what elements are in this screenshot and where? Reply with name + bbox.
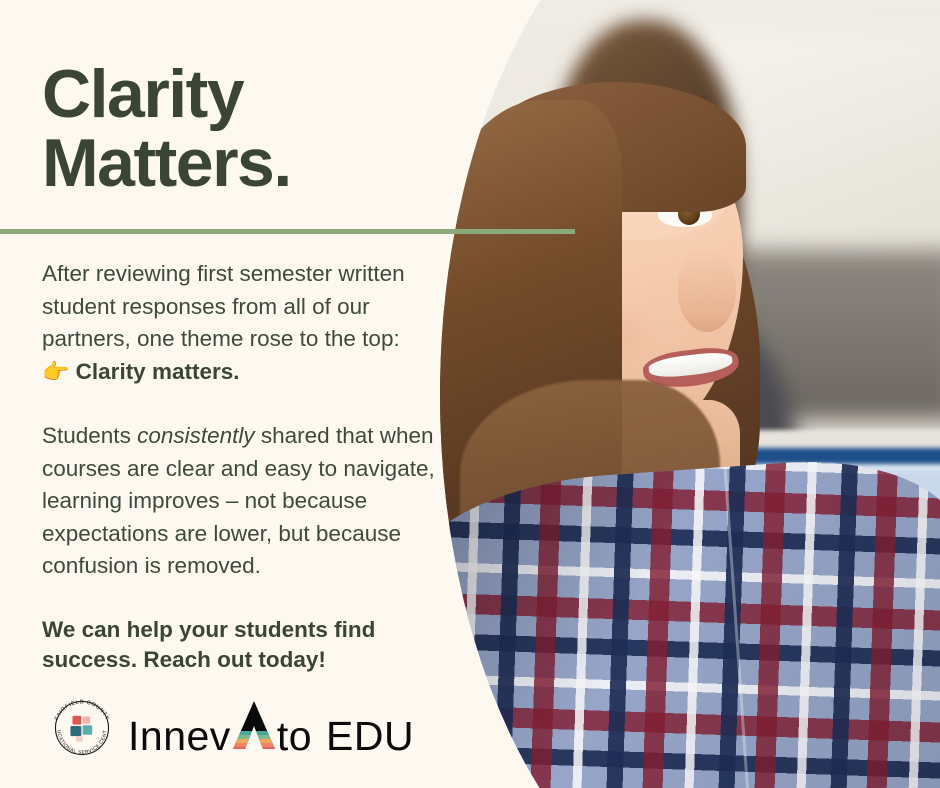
lead-in-bold: Clarity matters.	[76, 359, 240, 384]
pointing-hand-icon: 👉	[42, 359, 69, 384]
paragraph-two-emphasis: consistently	[137, 423, 255, 448]
a-letter-svg	[232, 700, 276, 750]
paragraph-one: After reviewing first semester written s…	[42, 258, 462, 356]
svg-text:· FAIRFIELD COUNTY ·: · FAIRFIELD COUNTY ·	[53, 700, 112, 726]
fairfield-county-esc-seal: · FAIRFIELD COUNTY · EDUCATIONAL SERVICE…	[48, 694, 116, 762]
cta-line-1: We can help your students find	[42, 615, 472, 645]
innevato-edu-wordmark: Innev	[128, 700, 414, 757]
student-teeth	[648, 350, 734, 380]
call-to-action: We can help your students find success. …	[42, 615, 472, 675]
logo-lockup: · FAIRFIELD COUNTY · EDUCATIONAL SERVICE…	[48, 694, 414, 762]
lead-in-line: 👉 Clarity matters.	[42, 356, 462, 389]
wordmark-a-icon	[232, 700, 276, 750]
paragraph-two-start: Students	[42, 423, 137, 448]
accent-divider	[0, 229, 575, 234]
content-column: Clarity Matters. After reviewing first s…	[0, 0, 578, 788]
student-nose	[678, 250, 736, 332]
seal-svg: · FAIRFIELD COUNTY · EDUCATIONAL SERVICE…	[48, 694, 116, 762]
wordmark-innev: Innev	[128, 716, 231, 757]
wordmark-to: to	[277, 716, 312, 757]
seal-tiles	[70, 716, 92, 742]
paragraph-two: Students consistently shared that when c…	[42, 420, 462, 583]
wordmark-edu: EDU	[326, 716, 414, 757]
body-copy: After reviewing first semester written s…	[42, 258, 462, 583]
a-stripes	[232, 731, 276, 750]
page-title: Clarity Matters.	[42, 60, 291, 199]
paragraph-spacer	[42, 388, 462, 420]
poster-canvas: Clarity Matters. After reviewing first s…	[0, 0, 940, 788]
cta-line-2: success. Reach out today!	[42, 645, 472, 675]
